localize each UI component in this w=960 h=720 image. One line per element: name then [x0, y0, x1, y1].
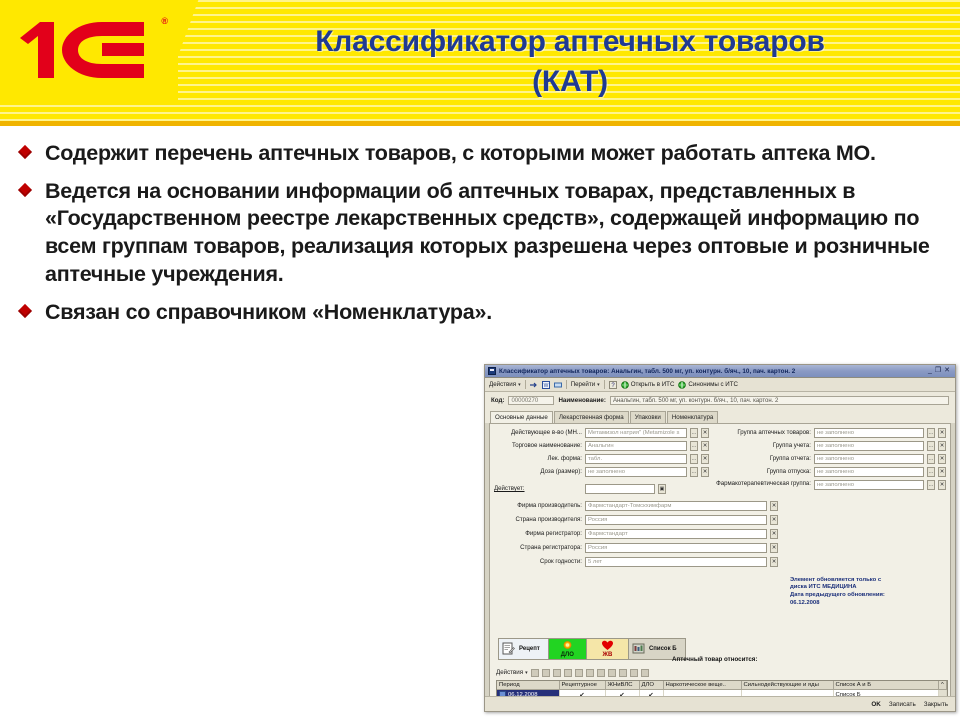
- code-label: Код:: [491, 397, 504, 404]
- bullet-text: Содержит перечень аптечных товаров, с ко…: [45, 140, 938, 168]
- update-note-line: Дата предыдущего обновления:: [790, 592, 950, 600]
- clear-button[interactable]: ✕: [770, 515, 778, 525]
- form-grid: Действующее в-во (МН... Метамизол натрия…: [494, 428, 946, 494]
- col-dlo[interactable]: ДЛО: [639, 681, 663, 690]
- page-title-line1: Классификатор аптечных товаров: [190, 22, 950, 62]
- clear-button[interactable]: ✕: [770, 501, 778, 511]
- badge-label: ДЛО: [561, 652, 574, 658]
- clear-button[interactable]: ✕: [770, 557, 778, 567]
- code-input[interactable]: 00000270: [508, 396, 554, 406]
- its-globe-icon: [678, 381, 686, 389]
- field-input[interactable]: Анальгин: [585, 441, 687, 451]
- minimize-icon[interactable]: _: [928, 367, 932, 375]
- prescription-icon: [502, 642, 515, 655]
- field-input[interactable]: не заполнено: [814, 441, 924, 451]
- toolbar-separator: [525, 380, 526, 389]
- save-button[interactable]: Записать: [889, 701, 916, 708]
- picker-button[interactable]: ...: [927, 428, 935, 438]
- picker-button[interactable]: ...: [690, 428, 698, 438]
- update-note-line: Элемент обновляется только с: [790, 577, 950, 585]
- field-input[interactable]: не заполнено: [814, 480, 924, 490]
- field-shelf-life: Срок годности: 5 лет ✕: [494, 557, 778, 567]
- picker-button[interactable]: ...: [690, 467, 698, 477]
- field-label: Фирма производитель:: [494, 502, 582, 509]
- field-label: Фармакотерапевтическая группа:: [715, 481, 811, 487]
- synonyms-its-label: Синонимы с ИТС: [688, 381, 738, 388]
- field-label: Лек. форма:: [494, 455, 582, 462]
- its-globe-icon: [621, 381, 629, 389]
- field-input[interactable]: не заполнено: [814, 467, 924, 477]
- field-label: Фирма регистратор:: [494, 530, 582, 537]
- chevron-down-icon: ▾: [518, 382, 521, 388]
- field-valid-from: Действует: ▣: [494, 484, 709, 494]
- name-label: Наименование:: [558, 397, 605, 404]
- bullet-text: Ведется на основании информации об аптеч…: [45, 178, 938, 289]
- badge-label: ЖВ: [603, 652, 613, 658]
- link-icon[interactable]: [554, 381, 562, 389]
- tab-bar: Основные данные Лекарственная форма Упак…: [485, 409, 955, 423]
- toolbar-separator: [566, 380, 567, 389]
- right-field-column: Группа аптечных товаров: не заполнено ..…: [715, 428, 946, 494]
- header-underline: [0, 121, 960, 126]
- synonyms-its-button[interactable]: Синонимы с ИТС: [678, 381, 738, 389]
- field-trade-name: Торговое наименование: Анальгин ... ✕: [494, 441, 709, 451]
- picker-button[interactable]: ...: [927, 441, 935, 451]
- picker-button[interactable]: ...: [927, 454, 935, 464]
- classification-badge-group: Рецепт ДЛО ЖВ Список Б: [498, 638, 686, 660]
- table-actions-label: Действия: [496, 669, 523, 676]
- onec-application-window: Классификатор аптечных товаров: Анальгин…: [484, 364, 956, 712]
- field-label: Страна регистратора:: [494, 544, 582, 551]
- window-title: Классификатор аптечных товаров: Анальгин…: [499, 368, 928, 375]
- clear-button[interactable]: ✕: [938, 467, 946, 477]
- badge-dlo[interactable]: ДЛО: [549, 639, 587, 659]
- field-manufacturer-company: Фирма производитель: Фармстандарт-Томскх…: [494, 501, 778, 511]
- bullet-list: Содержит перечень аптечных товаров, с ко…: [0, 140, 960, 336]
- table-toolbar: Действия ▾: [496, 669, 948, 677]
- field-label: Группа отпуска:: [715, 468, 811, 475]
- field-input[interactable]: [585, 484, 655, 494]
- main-form-panel: Действующее в-во (МН... Метамизол натрия…: [489, 423, 951, 713]
- tab-lekarstvennaya-forma[interactable]: Лекарственная форма: [554, 411, 629, 423]
- badge-label: Список Б: [649, 646, 677, 652]
- field-label: Действующее в-во (МН...: [494, 429, 582, 436]
- window-controls[interactable]: _ ❐ ✕: [928, 367, 952, 375]
- mark-delete-icon[interactable]: [575, 669, 583, 677]
- field-input[interactable]: Фармстандарт-Томскхимфарм: [585, 501, 767, 511]
- maximize-icon[interactable]: ❐: [935, 367, 941, 375]
- manufacturer-field-column: Фирма производитель: Фармстандарт-Томскх…: [494, 501, 778, 567]
- settings-icon[interactable]: [619, 669, 627, 677]
- page-title: Классификатор аптечных товаров (КАТ): [190, 22, 950, 102]
- picker-button[interactable]: ...: [690, 441, 698, 451]
- field-input[interactable]: Фармстандарт: [585, 529, 767, 539]
- list-item: Содержит перечень аптечных товаров, с ко…: [0, 140, 960, 168]
- field-label: Доза (размер):: [494, 468, 582, 475]
- clear-button[interactable]: ✕: [701, 428, 709, 438]
- slide-header: ® Классификатор аптечных товаров (КАТ): [0, 0, 960, 126]
- clear-button[interactable]: ✕: [770, 543, 778, 553]
- close-button[interactable]: Закрыть: [924, 701, 948, 708]
- field-manufacturer-country: Страна производителя: Россия ✕: [494, 515, 778, 525]
- table-scroll-up-button[interactable]: ^: [939, 681, 947, 690]
- close-icon[interactable]: ✕: [944, 367, 950, 375]
- list-item: Связан со справочником «Номенклатура».: [0, 299, 960, 327]
- col-receptural[interactable]: Рецептурное: [559, 681, 605, 690]
- clear-button[interactable]: ✕: [938, 454, 946, 464]
- bullet-text: Связан со справочником «Номенклатура».: [45, 299, 938, 327]
- open-in-its-label: Открыть в ИТС: [631, 381, 675, 388]
- update-note-line: 06.12.2008: [790, 600, 950, 608]
- refresh-icon[interactable]: [641, 669, 649, 677]
- list-icon: [632, 642, 645, 655]
- field-active-substance: Действующее в-во (МН... Метамизол натрия…: [494, 428, 709, 438]
- window-footer: OK Записать Закрыть: [485, 696, 955, 711]
- goto-menu-button[interactable]: Перейти ▾: [571, 381, 600, 388]
- clear-button[interactable]: ✕: [938, 480, 946, 490]
- field-registrar-country: Страна регистратора: Россия ✕: [494, 543, 778, 553]
- actions-menu-button[interactable]: Действия ▾: [489, 381, 521, 388]
- field-input[interactable]: не заполнено: [814, 428, 924, 438]
- field-pharmacy-goods-group: Группа аптечных товаров: не заполнено ..…: [715, 428, 946, 438]
- field-registrar-company: Фирма регистратор: Фармстандарт ✕: [494, 529, 778, 539]
- help-icon[interactable]: ?: [609, 381, 617, 389]
- paste-icon[interactable]: [608, 669, 616, 677]
- arrow-right-icon[interactable]: [530, 381, 538, 389]
- open-in-its-button[interactable]: Открыть в ИТС: [621, 381, 675, 389]
- field-label: Торговое наименование:: [494, 442, 582, 449]
- picker-button[interactable]: ...: [927, 467, 935, 477]
- add-row-icon[interactable]: [531, 669, 539, 677]
- field-input[interactable]: Метамизол натрия" (Metamizole s: [585, 428, 687, 438]
- filter-icon[interactable]: [630, 669, 638, 677]
- name-input[interactable]: Анальгин, табл. 500 мг, уп. контурн. б/я…: [610, 396, 949, 406]
- badge-recept[interactable]: Рецепт: [499, 639, 549, 659]
- field-label: Группа учета:: [715, 442, 811, 449]
- move-horizontal-icon[interactable]: [586, 669, 594, 677]
- clear-button[interactable]: ✕: [938, 428, 946, 438]
- field-label: Срок годности:: [494, 558, 582, 565]
- field-dose-size: Доза (размер): не заполнено ... ✕: [494, 467, 709, 477]
- col-potent-poisons[interactable]: Сильнодействующие и яды: [741, 681, 833, 690]
- tab-osnovnye-dannye[interactable]: Основные данные: [490, 411, 553, 423]
- clear-button[interactable]: ✕: [701, 441, 709, 451]
- badge-label: Рецепт: [519, 646, 540, 652]
- picker-button[interactable]: ...: [927, 480, 935, 490]
- field-report-group: Группа отчета: не заполнено ... ✕: [715, 454, 946, 464]
- field-input[interactable]: 5 лет: [585, 557, 767, 567]
- chevron-down-icon: ▾: [597, 382, 600, 388]
- field-label: Действует:: [494, 485, 582, 492]
- col-narcotic[interactable]: Наркотическое веще..: [663, 681, 741, 690]
- edit-row-icon[interactable]: [553, 669, 561, 677]
- field-dispensing-group: Группа отпуска: не заполнено ... ✕: [715, 467, 946, 477]
- field-dosage-form: Лек. форма: табл. ... ✕: [494, 454, 709, 464]
- registered-mark-icon: ®: [161, 16, 168, 26]
- sort-icon[interactable]: [597, 669, 605, 677]
- svg-text:W: W: [543, 383, 548, 389]
- toolbar-separator: [604, 380, 605, 389]
- copy-row-icon[interactable]: [542, 669, 550, 677]
- table-header-row: Период Рецептурное ЖНиВЛС ДЛО Наркотичес…: [497, 681, 947, 690]
- code-name-row: Код: 00000270 Наименование: Анальгин, та…: [485, 392, 955, 409]
- relates-label: Аптечный товар относится:: [672, 656, 757, 663]
- col-zhnivls[interactable]: ЖНиВЛС: [605, 681, 639, 690]
- page-title-line2: (КАТ): [190, 62, 950, 102]
- actions-label: Действия: [489, 381, 516, 388]
- badge-zhv[interactable]: ЖВ: [587, 639, 629, 659]
- left-field-column: Действующее в-во (МН... Метамизол натрия…: [494, 428, 709, 494]
- field-label: Группа аптечных товаров:: [715, 429, 811, 436]
- field-input[interactable]: Россия: [585, 543, 767, 553]
- window-app-icon: [488, 367, 496, 375]
- chevron-down-icon: ▾: [525, 670, 528, 676]
- tab-nomenklatura[interactable]: Номенклатура: [667, 411, 719, 423]
- field-label: Страна производителя:: [494, 516, 582, 523]
- field-input[interactable]: не заполнено: [585, 467, 687, 477]
- field-label: Группа отчета:: [715, 455, 811, 462]
- window-toolbar: Действия ▾ W Перейти ▾ ? Открыть в ИТС: [485, 378, 955, 392]
- diamond-bullet-icon: [18, 183, 33, 198]
- col-spisok-ab[interactable]: Список А и Б: [833, 681, 939, 690]
- diamond-bullet-icon: [18, 145, 33, 160]
- window-titlebar: Классификатор аптечных товаров: Анальгин…: [485, 365, 955, 378]
- tab-upakovki[interactable]: Упаковки: [630, 411, 666, 423]
- field-input[interactable]: не заполнено: [814, 454, 924, 464]
- clear-button[interactable]: ✕: [701, 454, 709, 464]
- goto-label: Перейти: [571, 381, 596, 388]
- table-actions-menu-button[interactable]: Действия ▾: [496, 669, 528, 676]
- ok-button[interactable]: OK: [871, 701, 880, 708]
- calendar-icon[interactable]: ▣: [658, 484, 666, 494]
- word-export-icon[interactable]: W: [542, 381, 550, 389]
- update-note: Элемент обновляется только с диска ИТС М…: [790, 577, 950, 609]
- delete-row-icon[interactable]: [564, 669, 572, 677]
- field-input[interactable]: Россия: [585, 515, 767, 525]
- clear-button[interactable]: ✕: [770, 529, 778, 539]
- clear-button[interactable]: ✕: [938, 441, 946, 451]
- diamond-bullet-icon: [18, 304, 33, 319]
- col-period[interactable]: Период: [497, 681, 559, 690]
- onec-logo: ®: [16, 16, 166, 86]
- field-input[interactable]: табл.: [585, 454, 687, 464]
- field-pharmacotherapeutic-group: Фармакотерапевтическая группа: не заполн…: [715, 480, 946, 490]
- clear-button[interactable]: ✕: [701, 467, 709, 477]
- list-item: Ведется на основании информации об аптеч…: [0, 178, 960, 289]
- field-accounting-group: Группа учета: не заполнено ... ✕: [715, 441, 946, 451]
- picker-button[interactable]: ...: [690, 454, 698, 464]
